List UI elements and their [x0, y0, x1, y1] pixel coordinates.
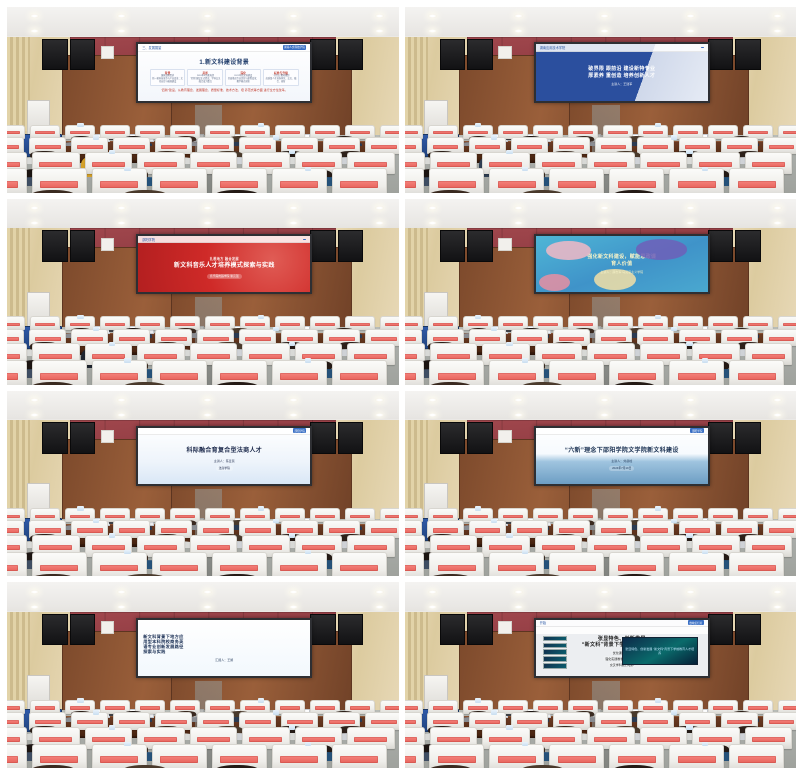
loudspeaker-left-a: [440, 422, 465, 454]
slide-title: 新文科音乐人才培养模式探索与实践: [143, 263, 305, 271]
water-bottle: [124, 358, 130, 362]
audience-area: [7, 681, 399, 768]
loudspeaker-left-a: [42, 39, 67, 71]
water-bottle: [77, 315, 83, 319]
water-bottle: [258, 698, 264, 702]
seat-row: [405, 360, 785, 384]
slide-body: 张显特色、创新发展 “新文科”背景下学前教育人才培养优化课程体系强化实践教学与产…: [536, 627, 708, 676]
projection-screen: 新文科背景下地方应 用型本科院校商务英 语专业创新发展路径 探索与实践汇报人：王…: [136, 618, 312, 678]
seat: [489, 552, 544, 576]
ceiling-downlight: [289, 413, 298, 417]
seat-row: [405, 744, 785, 768]
seat: [405, 744, 425, 768]
wall-panel-left: [498, 621, 511, 634]
slide-title: 新文科背景下地方应 用型本科院校商务英 语专业创新发展路径 探索与实践: [143, 634, 305, 655]
ppt-thumbnail-4: [543, 663, 567, 668]
water-bottle: [671, 327, 677, 331]
water-bottle: [506, 533, 512, 537]
loudspeaker-left-b: [70, 39, 95, 71]
slide-body: 破界限 跟前沿 建设新特专业 厚素养 重创造 培养创新人才主讲人：王建军: [536, 52, 708, 101]
ceiling-downlight: [686, 413, 695, 417]
seat: [405, 168, 425, 192]
slide-body: 科际融合育复合型法商人才主讲人：陈爱民法商学院: [138, 435, 310, 484]
seat: [669, 360, 724, 384]
slide-footer-chip: 法商学院: [216, 466, 233, 471]
projection-screen: 强化新文科建设，赋能思政课 育人价值主讲人：薛志军 马克思主义学院: [534, 234, 710, 294]
ceiling-downlight: [428, 413, 437, 417]
loudspeaker-left-a: [440, 614, 465, 646]
seat: [7, 552, 27, 576]
ppt-slide-canvas: 张显特色、创新发展 “新文科”背景下学前教育人才培养: [622, 637, 698, 665]
projection-screen: 邵阳学院扎根地方 融合发展新文科音乐人才培养模式探索与实践音乐舆舞蹈学院 谢克强: [136, 234, 312, 294]
water-bottle: [124, 167, 130, 171]
slide-footer-chip: 音乐舆舞蹈学院 谢克强: [207, 274, 242, 279]
water-bottle: [475, 315, 481, 319]
slide-subtitle: 主讲人：王建军: [611, 82, 632, 86]
audience-area: [405, 681, 797, 768]
ceiling-downlight: [117, 221, 126, 225]
photo-7: 新文科背景下地方应 用型本科院校商务英 语专业创新发展路径 探索与实践汇报人：王…: [7, 582, 399, 768]
wall-panel-left: [498, 430, 511, 443]
water-bottle: [258, 506, 264, 510]
water-bottle: [258, 123, 264, 127]
water-bottle: [522, 742, 528, 746]
seat: [152, 168, 207, 192]
loudspeaker-left-b: [467, 230, 492, 262]
ceiling-downlight: [600, 398, 609, 402]
water-bottle: [305, 742, 311, 746]
slide-header-left: 湖南应用技术学院: [540, 45, 566, 50]
flow-card-body: 全面推进专业优化与课程改革；教学模式创新: [227, 78, 259, 84]
ceiling-downlight: [117, 206, 126, 210]
projection-screen: 邵阳学院科际融合育复合型法商人才主讲人：陈爱民法商学院: [136, 426, 312, 486]
loudspeaker-left-b: [70, 230, 95, 262]
seat: [729, 360, 784, 384]
water-bottle: [93, 135, 99, 139]
flow-card-2: 深化2021年新文科建设全面推进专业优化与课程改革；教学模式创新: [225, 69, 261, 86]
water-bottle: [686, 150, 692, 154]
water-bottle: [273, 710, 279, 714]
ceiling-downlight: [203, 398, 212, 402]
loudspeaker-left-a: [42, 230, 67, 262]
projection-screen: 三、发展展望湖南人文科技学院1.新文科建设背景背景国家战略需求新一轮科技革命与产…: [136, 42, 312, 102]
water-bottle: [686, 725, 692, 729]
photo-5: 邵阳学院科际融合育复合型法商人才主讲人：陈爱民法商学院邵阳学院: [7, 391, 399, 577]
seat: [212, 552, 267, 576]
flow-card-3: 标准与升级“十四五”教育规划高质量人才培养体系；交叉、融合、创新: [263, 69, 299, 86]
ceiling-downlight: [773, 605, 782, 609]
seat: [332, 552, 387, 576]
loudspeaker-left-b: [467, 39, 492, 71]
water-bottle: [93, 519, 99, 523]
flow-card-body: “四新”建设正式提出；学科交叉融合成为重点: [189, 78, 221, 84]
audience-area: [7, 489, 399, 576]
seat: [152, 744, 207, 768]
wall-panel-left: [498, 46, 511, 59]
water-bottle: [686, 342, 692, 346]
ppt-thumbnail-2: [543, 649, 567, 654]
water-bottle: [273, 519, 279, 523]
ceiling-downlight: [428, 605, 437, 609]
ceiling-downlight: [30, 590, 39, 594]
loudspeaker-left-b: [70, 614, 95, 646]
ceiling-downlight: [600, 413, 609, 417]
water-bottle: [475, 506, 481, 510]
seat: [212, 360, 267, 384]
slide-subtitle: 主讲人：陈爱民: [214, 459, 235, 463]
water-bottle: [77, 123, 83, 127]
slide-header: 邵阳学院: [138, 428, 310, 435]
water-bottle: [491, 135, 497, 139]
water-bottle: [305, 358, 311, 362]
water-bottle: [289, 725, 295, 729]
wall-panel-left: [498, 238, 511, 251]
ceiling-downlight: [289, 605, 298, 609]
ppt-thumbnail-0: [543, 636, 567, 641]
seat-row: [7, 552, 387, 576]
photo-6: 邵阳学院“六新”理念下邵阳学院文学院新文科建设主讲人：刘桑峰2024年7月19日…: [405, 391, 797, 577]
water-bottle: [522, 358, 528, 362]
water-bottle: [109, 342, 115, 346]
slide-subtitle: 汇报人：王娟: [215, 658, 233, 662]
loudspeaker-right-a: [735, 39, 760, 71]
ceiling-downlight: [203, 413, 212, 417]
decor-blob-3: [539, 274, 570, 291]
water-bottle: [506, 342, 512, 346]
water-bottle: [522, 167, 528, 171]
seat: [549, 744, 604, 768]
water-bottle: [702, 358, 708, 362]
loudspeaker-left-b: [70, 422, 95, 454]
wall-panel-left: [101, 430, 114, 443]
loudspeaker-right-a: [735, 422, 760, 454]
ceiling-downlight: [203, 221, 212, 225]
ceiling-downlight: [428, 221, 437, 225]
loudspeaker-left-b: [467, 422, 492, 454]
slide-body: 新文科背景下地方应 用型本科院校商务英 语专业创新发展路径 探索与实践汇报人：王…: [138, 620, 310, 676]
school-logo-chip: 邵阳学院: [690, 428, 703, 433]
loudspeaker-right-b: [310, 230, 335, 262]
seat: [405, 360, 425, 384]
water-bottle: [506, 725, 512, 729]
decor-blob-1: [636, 239, 688, 259]
loudspeaker-right-a: [735, 230, 760, 262]
seat: [669, 168, 724, 192]
loudspeaker-left-a: [42, 422, 67, 454]
seat: [92, 360, 147, 384]
ceiling-downlight: [514, 605, 523, 609]
slide-note: “四新”建设，从教育理念、发展理念、质量标准、技术方法、培 养范式等方面 进行全…: [150, 88, 299, 92]
seat: [669, 744, 724, 768]
slide-title: 1.新文科建设背景: [143, 60, 305, 68]
photo-1: 三、发展展望湖南人文科技学院1.新文科建设背景背景国家战略需求新一轮科技革命与产…: [7, 7, 399, 193]
water-bottle: [109, 533, 115, 537]
audience-area: [405, 489, 797, 576]
slide-footer-chip: 2024年7月19日: [609, 466, 634, 471]
water-bottle: [475, 698, 481, 702]
slide-header-left: 开始: [540, 620, 546, 625]
flow-card-body: 新一轮科技革命与产业变革；文化自信与强国建设: [152, 78, 184, 84]
audience-area: [7, 105, 399, 192]
ceiling-downlight: [428, 398, 437, 402]
water-bottle: [124, 550, 130, 554]
loudspeaker-left-a: [440, 39, 465, 71]
water-bottle: [671, 519, 677, 523]
loudspeaker-right-b: [708, 39, 733, 71]
ceiling-downlight: [117, 590, 126, 594]
slide-subtitle: 主讲人：薛志军 马克思主义学院: [600, 270, 643, 274]
slide-body: 强化新文科建设，赋能思政课 育人价值主讲人：薛志军 马克思主义学院: [536, 236, 708, 292]
seat: [729, 552, 784, 576]
ceiling-downlight: [117, 413, 126, 417]
seat: [332, 168, 387, 192]
loudspeaker-left-a: [440, 230, 465, 262]
seat-row: [7, 744, 387, 768]
slide-header: 开始放映幻灯片: [536, 620, 708, 627]
slide-title: 科际融合育复合型法商人才: [143, 448, 305, 456]
slide-body: 扎根地方 融合发展新文科音乐人才培养模式探索与实践音乐舆舞蹈学院 谢克强: [138, 243, 310, 292]
water-bottle: [506, 150, 512, 154]
slide-body: 1.新文科建设背景背景国家战略需求新一轮科技革命与产业变革；文化自信与强国建设起…: [138, 52, 310, 101]
ceiling-downlight: [375, 221, 384, 225]
seat-row: [7, 360, 387, 384]
water-bottle: [475, 123, 481, 127]
water-bottle: [305, 550, 311, 554]
seat: [549, 360, 604, 384]
ceiling-downlight: [375, 398, 384, 402]
seat: [332, 360, 387, 384]
slide-header: 湖南应用技术学院: [536, 44, 708, 51]
ceiling-downlight: [30, 605, 39, 609]
loudspeaker-right-b: [708, 422, 733, 454]
ppt-thumbnail-3: [543, 656, 567, 661]
seat: [429, 552, 484, 576]
ceiling-downlight: [773, 398, 782, 402]
slide-header: 三、发展展望湖南人文科技学院: [138, 44, 310, 51]
seat: [549, 168, 604, 192]
seat: [7, 168, 27, 192]
flow-card-0: 背景国家战略需求新一轮科技革命与产业变革；文化自信与强国建设: [150, 69, 186, 86]
seat: [152, 552, 207, 576]
ceiling-downlight: [514, 413, 523, 417]
water-bottle: [686, 533, 692, 537]
water-bottle: [124, 742, 130, 746]
ceiling-downlight: [514, 398, 523, 402]
photo-8: 开始放映幻灯片张显特色、创新发展 “新文科”背景下学前教育人才培养优化课程体系强…: [405, 582, 797, 768]
photo-3: 邵阳学院扎根地方 融合发展新文科音乐人才培养模式探索与实践音乐舆舞蹈学院 谢克强…: [7, 199, 399, 385]
seat: [272, 360, 327, 384]
water-bottle: [491, 710, 497, 714]
ceiling-downlight: [773, 413, 782, 417]
decor-blob-0: [546, 241, 591, 260]
ceiling-downlight: [117, 398, 126, 402]
school-logo-chip: [303, 239, 306, 240]
slide-eyebrow: 扎根地方 融合发展: [210, 257, 239, 261]
seat: [32, 168, 87, 192]
water-bottle: [655, 698, 661, 702]
seat: [729, 744, 784, 768]
loudspeaker-right-a: [338, 422, 363, 454]
water-bottle: [77, 506, 83, 510]
water-bottle: [671, 135, 677, 139]
slide-header: 邵阳学院: [536, 428, 708, 435]
ceiling-downlight: [773, 590, 782, 594]
ceiling-downlight: [773, 206, 782, 210]
seat: [32, 552, 87, 576]
water-bottle: [702, 742, 708, 746]
seat: [272, 552, 327, 576]
wall-panel-left: [101, 621, 114, 634]
audience-area: [7, 297, 399, 384]
loudspeaker-right-a: [338, 230, 363, 262]
water-bottle: [77, 698, 83, 702]
water-bottle: [289, 342, 295, 346]
seat-row: [405, 168, 785, 192]
seat: [332, 744, 387, 768]
ceiling-downlight: [289, 590, 298, 594]
seat: [92, 552, 147, 576]
slide-title: “六新”理念下邵阳学院文学院新文科建设: [541, 448, 703, 456]
projection-screen: 邵阳学院“六新”理念下邵阳学院文学院新文科建设主讲人：刘桑峰2024年7月19日: [534, 426, 710, 486]
water-bottle: [491, 327, 497, 331]
school-logo-chip: 邵阳学院: [293, 428, 306, 433]
ceiling-downlight: [686, 590, 695, 594]
wall-panel-left: [101, 46, 114, 59]
loudspeaker-right-b: [708, 614, 733, 646]
seat: [429, 360, 484, 384]
loudspeaker-right-a: [338, 39, 363, 71]
ceiling-downlight: [289, 398, 298, 402]
flow-card-1: 起步2018年4月教育部“四新”建设正式提出；学科交叉融合成为重点: [187, 69, 223, 86]
water-bottle: [93, 710, 99, 714]
seat: [609, 360, 664, 384]
ceiling-downlight: [30, 413, 39, 417]
water-bottle: [305, 167, 311, 171]
wall-panel-left: [101, 238, 114, 251]
seat: [272, 744, 327, 768]
seat: [729, 168, 784, 192]
school-logo-chip: 湖南人文科技学院: [283, 45, 307, 50]
ceiling-downlight: [600, 590, 609, 594]
school-logo-chip: [701, 47, 704, 48]
ceiling-downlight: [203, 590, 212, 594]
school-logo-chip: 放映幻灯片: [688, 620, 704, 625]
water-bottle: [289, 150, 295, 154]
loudspeaker-left-a: [42, 614, 67, 646]
seat: [489, 360, 544, 384]
ceiling-downlight: [117, 605, 126, 609]
slide-header-left: 三、发展展望: [142, 45, 161, 50]
seat: [7, 360, 27, 384]
water-bottle: [273, 135, 279, 139]
water-bottle: [491, 519, 497, 523]
loudspeaker-right-b: [310, 614, 335, 646]
seat: [549, 552, 604, 576]
ceiling-downlight: [428, 590, 437, 594]
loudspeaker-right-a: [735, 614, 760, 646]
photo-grid: 三、发展展望湖南人文科技学院1.新文科建设背景背景国家战略需求新一轮科技革命与产…: [0, 0, 800, 768]
ceiling-downlight: [514, 590, 523, 594]
ppt-thumbnail-1: [543, 643, 567, 648]
ceiling-downlight: [375, 590, 384, 594]
seat: [152, 360, 207, 384]
seat: [405, 552, 425, 576]
loudspeaker-left-b: [467, 614, 492, 646]
water-bottle: [655, 506, 661, 510]
water-bottle: [702, 167, 708, 171]
seat: [272, 168, 327, 192]
ceiling-downlight: [773, 221, 782, 225]
ceiling-downlight: [375, 413, 384, 417]
slide-header-left: 邵阳学院: [142, 237, 155, 242]
water-bottle: [702, 550, 708, 554]
water-bottle: [655, 123, 661, 127]
loudspeaker-right-b: [310, 422, 335, 454]
ceiling-downlight: [375, 605, 384, 609]
seat: [609, 552, 664, 576]
projection-screen: 开始放映幻灯片张显特色、创新发展 “新文科”背景下学前教育人才培养优化课程体系强…: [534, 618, 710, 678]
seat: [669, 552, 724, 576]
flow-card-body: 高质量人才培养体系；交叉、融合、创新: [265, 78, 297, 84]
photo-4: 强化新文科建设，赋能思政课 育人价值主讲人：薛志军 马克思主义学院邵阳学院: [405, 199, 797, 385]
slide-title: 破界限 跟前沿 建设新特专业 厚素养 重创造 培养创新人才: [541, 66, 703, 79]
water-bottle: [655, 315, 661, 319]
water-bottle: [671, 710, 677, 714]
seat-row: [7, 168, 387, 192]
seat: [429, 168, 484, 192]
loudspeaker-right-a: [338, 614, 363, 646]
ceiling-downlight: [686, 605, 695, 609]
ceiling-downlight: [289, 221, 298, 225]
water-bottle: [93, 327, 99, 331]
audience-area: [405, 105, 797, 192]
slide-header: 邵阳学院: [138, 236, 310, 243]
water-bottle: [273, 327, 279, 331]
water-bottle: [258, 315, 264, 319]
seat: [489, 168, 544, 192]
audience-area: [405, 297, 797, 384]
projection-screen: 湖南应用技术学院破界限 跟前沿 建设新特专业 厚素养 重创造 培养创新人才主讲人…: [534, 42, 710, 102]
seat-row: [405, 552, 785, 576]
loudspeaker-right-b: [310, 39, 335, 71]
seat: [7, 744, 27, 768]
ceiling-downlight: [600, 605, 609, 609]
slide-body: “六新”理念下邵阳学院文学院新文科建设主讲人：刘桑峰2024年7月19日: [536, 435, 708, 484]
water-bottle: [109, 150, 115, 154]
photo-2: 湖南应用技术学院破界限 跟前沿 建设新特专业 厚素养 重创造 培养创新人才主讲人…: [405, 7, 797, 193]
slide-flow-row: 背景国家战略需求新一轮科技革命与产业变革；文化自信与强国建设起步2018年4月教…: [150, 69, 299, 86]
water-bottle: [289, 533, 295, 537]
ceiling-downlight: [203, 605, 212, 609]
slide-subtitle: 主讲人：刘桑峰: [611, 459, 632, 463]
seat: [32, 360, 87, 384]
water-bottle: [522, 550, 528, 554]
water-bottle: [109, 725, 115, 729]
loudspeaker-right-b: [708, 230, 733, 262]
